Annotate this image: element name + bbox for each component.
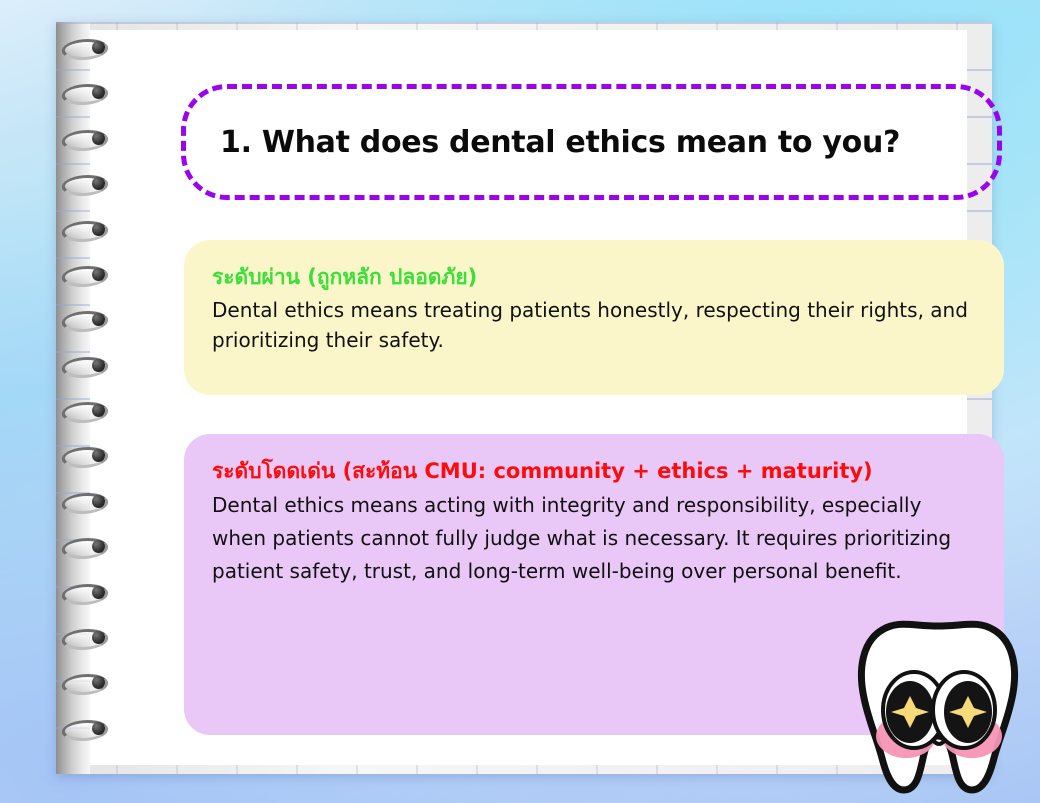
spiral-ring: [62, 265, 114, 283]
answer-heading-outstanding-level: ระดับโดดเด่น (สะท้อน CMU: community + et…: [212, 458, 974, 485]
answer-heading-pass-level: ระดับผ่าน (ถูกหลัก ปลอดภัย): [212, 264, 974, 291]
ring-knob: [92, 268, 105, 281]
spiral-ring: [62, 356, 114, 374]
answer-body-outstanding-level: Dental ethics means acting with integrit…: [212, 489, 974, 588]
spiral-ring: [62, 446, 114, 464]
question-box: 1. What does dental ethics mean to you?: [181, 84, 1002, 200]
ring-knob: [92, 586, 105, 599]
spiral-ring: [62, 673, 114, 691]
ring-knob: [92, 404, 105, 417]
answer-card-pass-level: ระดับผ่าน (ถูกหลัก ปลอดภัย) Dental ethic…: [184, 240, 1004, 395]
spiral-ring: [62, 38, 114, 56]
spiral-ring: [62, 83, 114, 101]
ring-knob: [92, 495, 105, 508]
ring-knob: [92, 132, 105, 145]
spiral-rings: [62, 38, 120, 764]
question-text: 1. What does dental ethics mean to you?: [220, 125, 900, 160]
ring-knob: [92, 631, 105, 644]
slide-canvas: 1. What does dental ethics mean to you? …: [0, 0, 1040, 803]
ring-knob: [92, 722, 105, 735]
spiral-ring: [62, 310, 114, 328]
spiral-ring: [62, 174, 114, 192]
ring-knob: [92, 223, 105, 236]
ring-knob: [92, 41, 105, 54]
tooth-mascot: [852, 618, 1024, 796]
spiral-ring: [62, 719, 114, 737]
spiral-ring: [62, 537, 114, 555]
tooth-icon: [852, 618, 1024, 796]
spiral-ring: [62, 220, 114, 238]
spiral-ring: [62, 583, 114, 601]
answer-body-pass-level: Dental ethics means treating patients ho…: [212, 295, 974, 355]
spiral-ring: [62, 492, 114, 510]
spiral-ring: [62, 129, 114, 147]
ring-knob: [92, 359, 105, 372]
spiral-ring: [62, 401, 114, 419]
spiral-ring: [62, 628, 114, 646]
